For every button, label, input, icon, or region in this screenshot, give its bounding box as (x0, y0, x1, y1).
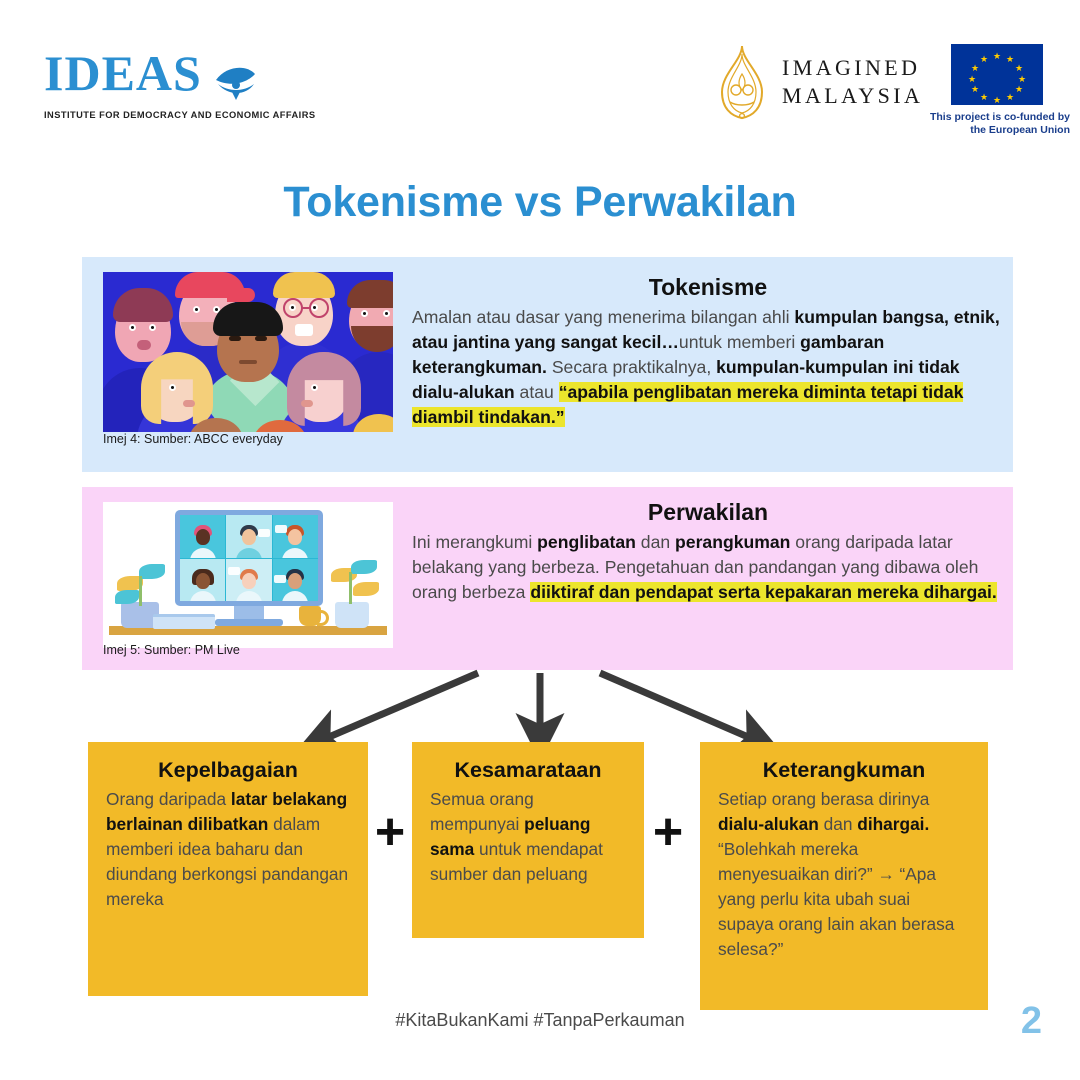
imagined-malaysia-wordmark: IMAGINED MALAYSIA (782, 54, 923, 110)
plant-pot-right (335, 602, 369, 628)
box-keterangkuman-text: Setiap orang berasa dirinya dialu-alukan… (718, 787, 970, 963)
video-tile (273, 559, 318, 602)
arrow-left (315, 673, 478, 743)
video-tile (226, 559, 271, 602)
ideas-wordmark-row: IDEAS (44, 48, 284, 106)
box-kesamarataan-text: Semua orang mempunyai peluang sama untuk… (430, 787, 626, 887)
monitor-stand (234, 606, 264, 620)
panel-tokenisme: Imej 4: Sumber: ABCC everyday Tokenisme … (82, 257, 1013, 472)
crowd-illustration (103, 272, 393, 432)
imagined-malaysia-logo: IMAGINED MALAYSIA (716, 44, 923, 120)
video-tile (226, 515, 271, 558)
ideas-tagline: INSTITUTE FOR DEMOCRACY AND ECONOMIC AFF… (44, 110, 284, 120)
eu-flag-icon: ★ ★ ★ ★ ★ ★ ★ ★ ★ ★ ★ ★ (951, 44, 1043, 105)
perwakilan-heading: Perwakilan (412, 499, 1004, 526)
monitor-base (215, 619, 283, 626)
box-kepelbagaian: Kepelbagaian Orang daripada latar belaka… (88, 742, 368, 996)
wayang-ornament-icon (716, 44, 768, 120)
coffee-mug (299, 606, 321, 626)
box-keterangkuman-heading: Keterangkuman (718, 758, 970, 783)
page-number: 2 (1021, 1000, 1042, 1043)
box-kepelbagaian-heading: Kepelbagaian (106, 758, 350, 783)
ideas-wordmark: IDEAS (44, 45, 202, 101)
books (153, 614, 215, 629)
footer-hashtags: #KitaBukanKami #TanpaPerkauman (0, 1010, 1080, 1031)
box-kesamarataan: Kesamarataan Semua orang mempunyai pelua… (412, 742, 644, 938)
eu-funding-block: ★ ★ ★ ★ ★ ★ ★ ★ ★ ★ ★ ★ This project is … (924, 44, 1070, 137)
video-call-illustration (103, 502, 393, 648)
leaf (139, 564, 165, 579)
leaf (115, 590, 139, 604)
ideas-logo: IDEAS INSTITUTE FOR DEMOCRACY AND ECONOM… (44, 48, 284, 120)
plus-operator-1: + (368, 806, 412, 858)
video-tile (180, 559, 225, 602)
video-tile (180, 515, 225, 558)
perwakilan-image-caption: Imej 5: Sumber: PM Live (103, 643, 240, 657)
video-tile (273, 515, 318, 558)
tokenisme-paragraph: Amalan atau dasar yang menerima bilangan… (412, 305, 1004, 430)
box-kesamarataan-heading: Kesamarataan (430, 758, 626, 783)
arrow-right (600, 673, 762, 743)
im-line-2: MALAYSIA (782, 82, 923, 110)
tokenisme-heading: Tokenisme (412, 274, 1004, 301)
monitor-icon (175, 510, 323, 606)
perwakilan-paragraph: Ini merangkumi penglibatan dan perangkum… (412, 530, 1004, 605)
tokenisme-body: Tokenisme Amalan atau dasar yang menerim… (412, 274, 1004, 430)
im-line-1: IMAGINED (782, 54, 923, 82)
panel-perwakilan: Imej 5: Sumber: PM Live Perwakilan Ini m… (82, 487, 1013, 670)
box-kepelbagaian-text: Orang daripada latar belakang berlainan … (106, 787, 350, 912)
leaf (351, 560, 377, 574)
page-title: Tokenisme vs Perwakilan (0, 178, 1080, 227)
eu-funding-caption: This project is co-funded by the Europea… (924, 111, 1070, 137)
ideas-fish-icon (212, 62, 258, 102)
perwakilan-body: Perwakilan Ini merangkumi penglibatan da… (412, 499, 1004, 605)
infographic-page: IDEAS INSTITUTE FOR DEMOCRACY AND ECONOM… (0, 0, 1080, 1080)
header: IDEAS INSTITUTE FOR DEMOCRACY AND ECONOM… (0, 0, 1080, 150)
box-keterangkuman: Keterangkuman Setiap orang berasa diriny… (700, 742, 988, 1010)
plus-operator-2: + (646, 806, 690, 858)
tokenisme-illustration (103, 272, 393, 432)
perwakilan-illustration (103, 502, 393, 648)
tokenisme-image-caption: Imej 4: Sumber: ABCC everyday (103, 432, 283, 446)
leaf (353, 582, 379, 596)
video-grid (180, 515, 318, 601)
